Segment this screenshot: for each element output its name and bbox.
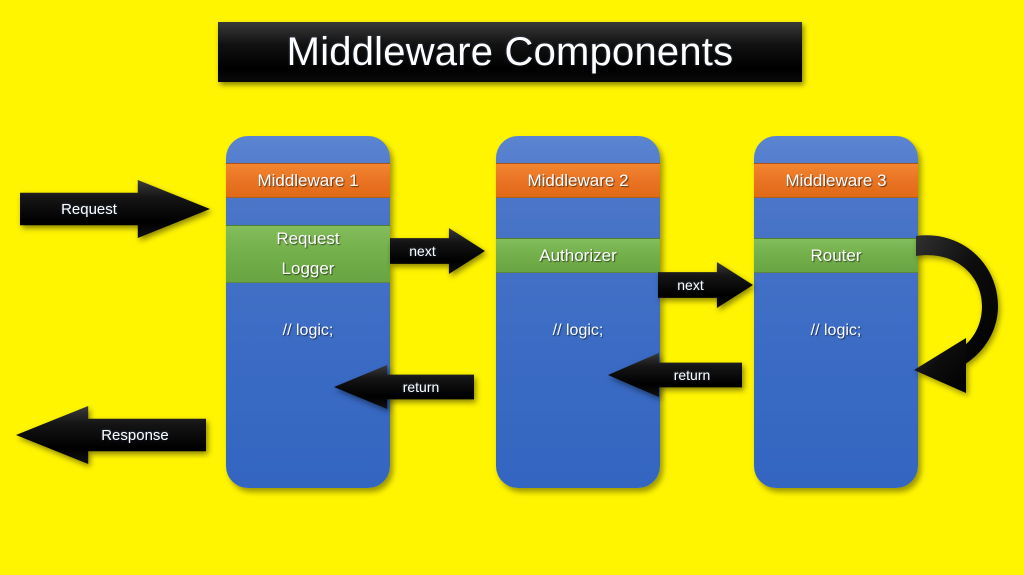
middleware-column-3: Middleware 3 Router // logic; bbox=[754, 136, 918, 488]
middleware-body-text-2: // logic; bbox=[496, 322, 660, 340]
request-arrow: Request bbox=[20, 180, 210, 238]
middleware-header-band-1: Middleware 1 bbox=[226, 163, 390, 198]
middleware-body-text-1: // logic; bbox=[226, 322, 390, 340]
next-arrow-2-label: next bbox=[658, 277, 753, 293]
title-banner: Middleware Components bbox=[218, 22, 802, 82]
middleware-component-label-3: Router bbox=[810, 244, 861, 268]
next-arrow-2: next bbox=[658, 262, 753, 308]
middleware-component-band-2: Authorizer bbox=[496, 238, 660, 273]
middleware-column-1: Middleware 1 Request Logger // logic; bbox=[226, 136, 390, 488]
middleware-header-label-3: Middleware 3 bbox=[785, 169, 886, 193]
middleware-header-band-3: Middleware 3 bbox=[754, 163, 918, 198]
curved-arrow-icon bbox=[910, 218, 1022, 398]
request-arrow-label: Request bbox=[20, 201, 210, 218]
next-arrow-1-label: next bbox=[390, 243, 485, 259]
middleware-component-label-1-line1: Request bbox=[276, 224, 339, 254]
return-arrow-2: return bbox=[608, 353, 742, 397]
response-arrow-label: Response bbox=[16, 427, 206, 444]
middleware-component-label-1-line2: Logger bbox=[282, 254, 335, 284]
return-arrow-1: return bbox=[334, 365, 474, 409]
middleware-component-band-3: Router bbox=[754, 238, 918, 273]
return-arrow-1-label: return bbox=[334, 379, 474, 395]
next-arrow-1: next bbox=[390, 228, 485, 274]
response-arrow: Response bbox=[16, 406, 206, 464]
middleware-component-band-1: Request Logger bbox=[226, 225, 390, 283]
middleware-body-text-3: // logic; bbox=[754, 322, 918, 340]
diagram-canvas: Middleware Components Middleware 1 Reque… bbox=[0, 0, 1024, 575]
middleware-header-band-2: Middleware 2 bbox=[496, 163, 660, 198]
middleware-column-2: Middleware 2 Authorizer // logic; bbox=[496, 136, 660, 488]
return-arrow-2-label: return bbox=[608, 367, 742, 383]
middleware-header-label-2: Middleware 2 bbox=[527, 169, 628, 193]
middleware-component-label-2: Authorizer bbox=[539, 244, 616, 268]
middleware-header-label-1: Middleware 1 bbox=[257, 169, 358, 193]
page-title: Middleware Components bbox=[287, 30, 734, 75]
loopback-curved-arrow bbox=[910, 218, 1022, 398]
